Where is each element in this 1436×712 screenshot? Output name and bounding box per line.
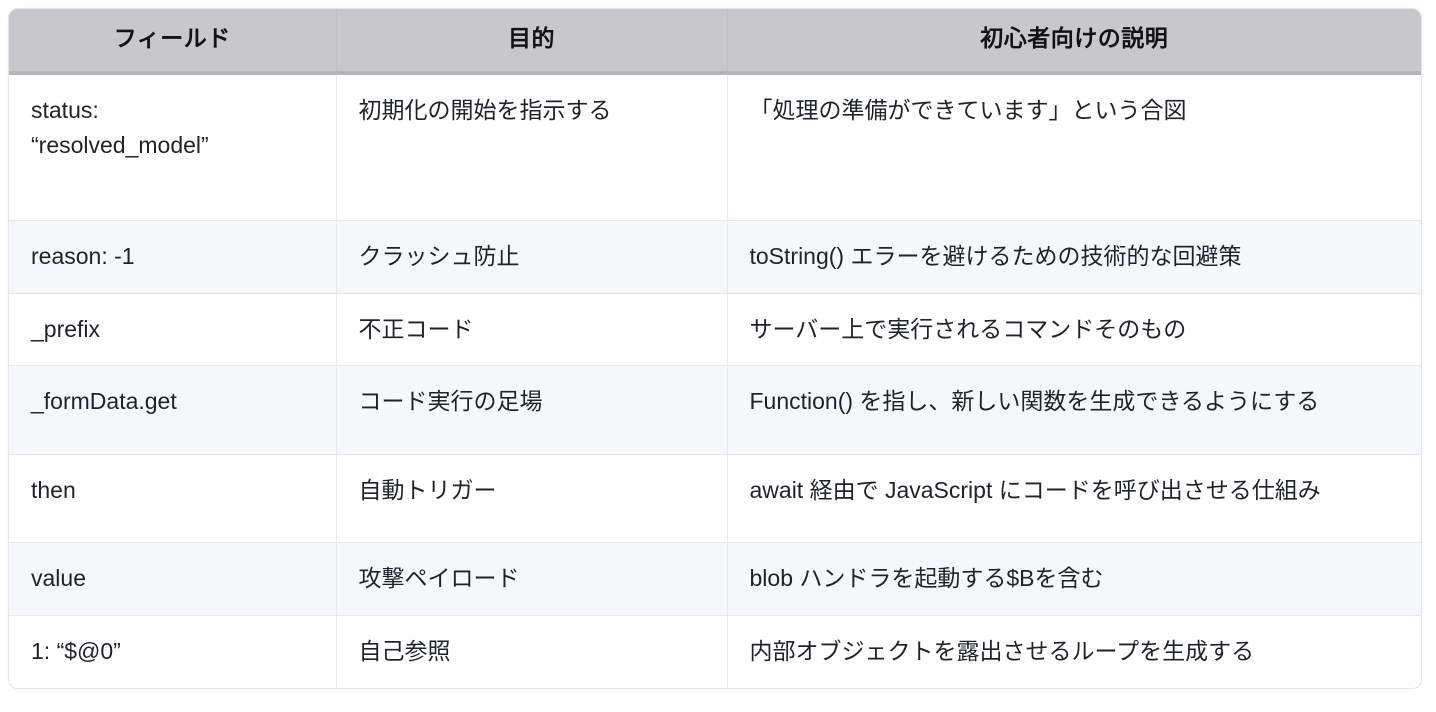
cell-field-line: “resolved_model”	[31, 128, 314, 164]
table-row: 1: “$@0” 自己参照 内部オブジェクトを露出させるループを生成する	[9, 616, 1421, 688]
cell-purpose: 自己参照	[336, 616, 727, 688]
header-row: フィールド 目的 初心者向けの説明	[9, 9, 1421, 73]
table-row: status: “resolved_model” 初期化の開始を指示する 「処理…	[9, 73, 1421, 221]
table-row: _formData.get コード実行の足場 Function() を指し、新し…	[9, 366, 1421, 455]
page-root: フィールド 目的 初心者向けの説明 status: “resolved_mode…	[0, 0, 1436, 712]
cell-description: サーバー上で実行されるコマンドそのもの	[727, 293, 1421, 366]
table-header: フィールド 目的 初心者向けの説明	[9, 9, 1421, 73]
cell-purpose: クラッシュ防止	[336, 220, 727, 293]
table-row: then 自動トリガー await 経由で JavaScript にコードを呼び…	[9, 454, 1421, 543]
table-container: フィールド 目的 初心者向けの説明 status: “resolved_mode…	[8, 8, 1422, 689]
cell-field: status: “resolved_model”	[9, 73, 336, 221]
cell-description: 内部オブジェクトを露出させるループを生成する	[727, 616, 1421, 688]
cell-purpose: 自動トリガー	[336, 454, 727, 543]
cell-description: await 経由で JavaScript にコードを呼び出させる仕組み	[727, 454, 1421, 543]
cell-field: reason: -1	[9, 220, 336, 293]
table-body: status: “resolved_model” 初期化の開始を指示する 「処理…	[9, 73, 1421, 688]
column-header-description: 初心者向けの説明	[727, 9, 1421, 73]
cell-field: _prefix	[9, 293, 336, 366]
field-reference-table: フィールド 目的 初心者向けの説明 status: “resolved_mode…	[9, 9, 1421, 688]
table-row: _prefix 不正コード サーバー上で実行されるコマンドそのもの	[9, 293, 1421, 366]
cell-description: blob ハンドラを起動する$Bを含む	[727, 543, 1421, 616]
cell-purpose: 攻撃ペイロード	[336, 543, 727, 616]
cell-description: 「処理の準備ができています」という合図	[727, 73, 1421, 221]
cell-field: _formData.get	[9, 366, 336, 455]
cell-purpose: 初期化の開始を指示する	[336, 73, 727, 221]
cell-field: value	[9, 543, 336, 616]
cell-field: then	[9, 454, 336, 543]
cell-description: Function() を指し、新しい関数を生成できるようにする	[727, 366, 1421, 455]
cell-purpose: コード実行の足場	[336, 366, 727, 455]
cell-purpose: 不正コード	[336, 293, 727, 366]
table-row: reason: -1 クラッシュ防止 toString() エラーを避けるための…	[9, 220, 1421, 293]
cell-field-line: status:	[31, 93, 314, 129]
table-row: value 攻撃ペイロード blob ハンドラを起動する$Bを含む	[9, 543, 1421, 616]
column-header-purpose: 目的	[336, 9, 727, 73]
cell-field: 1: “$@0”	[9, 616, 336, 688]
cell-description: toString() エラーを避けるための技術的な回避策	[727, 220, 1421, 293]
column-header-field: フィールド	[9, 9, 336, 73]
